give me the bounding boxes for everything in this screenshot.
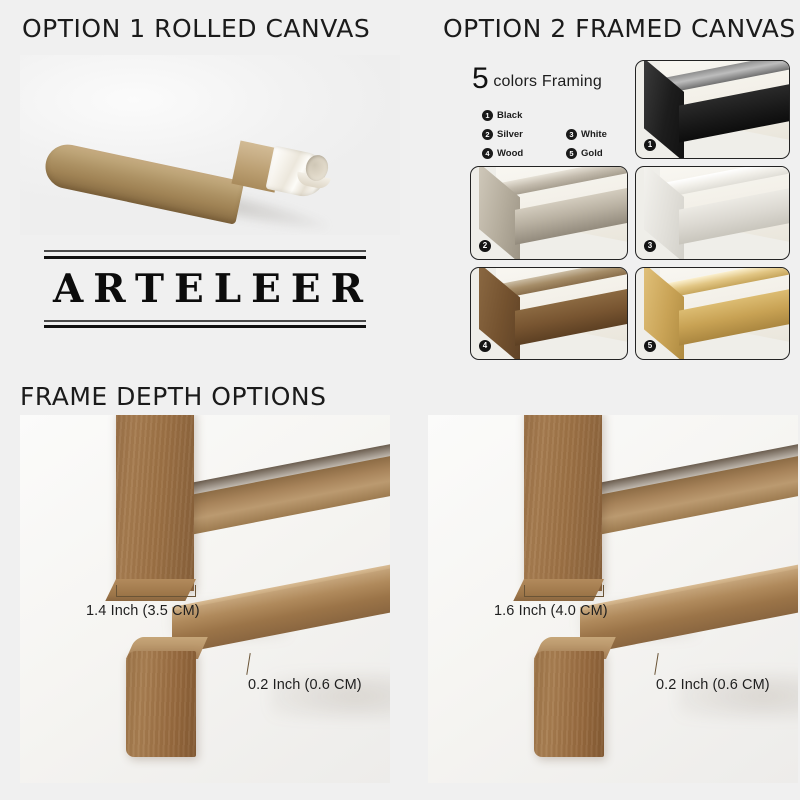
frame-depth-heading: FRAME DEPTH OPTIONS [20,382,326,411]
swatch-number-3: 3 [644,240,656,252]
frame-swatch-grid: 5 colors Framing 1 Black 2 Silver [470,60,790,360]
legend-item-gold: 5 Gold [566,148,628,159]
legend-label-silver: Silver [497,129,523,140]
legend-label-white: White [581,129,607,140]
thickness-dimension-label: 0.2 Inch (0.6 CM) [248,677,362,693]
legend-badge-1: 1 [482,110,493,121]
frame-corner-render [636,167,789,259]
legend-badge-4: 4 [482,148,493,159]
frame-corner-post [116,415,194,591]
framing-legend-rows: 1 Black 2 Silver 3 White [472,110,628,159]
swatch-number-5: 5 [644,340,656,352]
option1-heading: OPTION 1 ROLLED CANVAS [22,14,370,43]
framing-legend-title: 5 colors Framing [472,62,628,96]
legend-row: 1 Black [482,110,628,121]
frame-swatch-gold[interactable]: 5 [635,267,790,361]
frame-depth-photo-right: 1.6 Inch (4.0 CM) 0.2 Inch (0.6 CM) [428,415,798,783]
framing-count: 5 [472,62,489,95]
frame-corner-render [636,61,789,158]
depth-dimension-label: 1.6 Inch (4.0 CM) [494,603,608,619]
frame-corner-post [524,415,602,591]
brand-wordmark: ARTELEER [44,259,366,320]
legend-badge-2: 2 [482,129,493,140]
frame-swatch-silver[interactable]: 2 [470,166,628,260]
option2-heading: OPTION 2 FRAMED CANVAS [443,14,796,43]
depth-dimension-label: 1.4 Inch (3.5 CM) [86,603,200,619]
legend-row: 2 Silver 3 White [482,129,628,140]
frame-swatch-wood[interactable]: 4 [470,267,628,361]
swatch-number-2: 2 [479,240,491,252]
legend-label-gold: Gold [581,148,603,159]
legend-badge-3: 3 [566,129,577,140]
frame-swatch-white[interactable]: 3 [635,166,790,260]
framing-legend: 5 colors Framing 1 Black 2 Silver [470,60,628,159]
legend-row: 4 Wood 5 Gold [482,148,628,159]
legend-item-wood: 4 Wood [482,148,544,159]
legend-badge-5: 5 [566,148,577,159]
frame-corner-render [471,268,627,360]
swatch-number-4: 4 [479,340,491,352]
depth-dimension-bracket [524,585,604,597]
frame-corner-render [471,167,627,259]
brand-logo-block: ARTELEER [44,250,366,328]
thickness-dimension-label: 0.2 Inch (0.6 CM) [656,677,770,693]
rolled-canvas-photo [20,55,400,235]
legend-item-silver: 2 Silver [482,129,544,140]
depth-dimension-bracket [116,585,196,597]
framing-options-panel: 5 colors Framing 1 Black 2 Silver [470,60,790,360]
lower-corner-block [126,651,196,757]
swatch-number-1: 1 [644,139,656,151]
legend-label-black: Black [497,110,522,121]
frame-swatch-black[interactable]: 1 [635,60,790,159]
lower-corner-block [534,651,604,757]
frame-corner-render [636,268,789,360]
legend-item-white: 3 White [566,129,628,140]
logo-rule-bottom-thick [44,325,366,328]
frame-depth-photo-left: 1.4 Inch (3.5 CM) 0.2 Inch (0.6 CM) [20,415,390,783]
framing-title-text: colors Framing [489,73,602,90]
legend-item-black: 1 Black [482,110,544,121]
legend-label-wood: Wood [497,148,523,159]
infographic-page: OPTION 1 ROLLED CANVAS ARTELEER OPTION 2… [0,0,800,800]
